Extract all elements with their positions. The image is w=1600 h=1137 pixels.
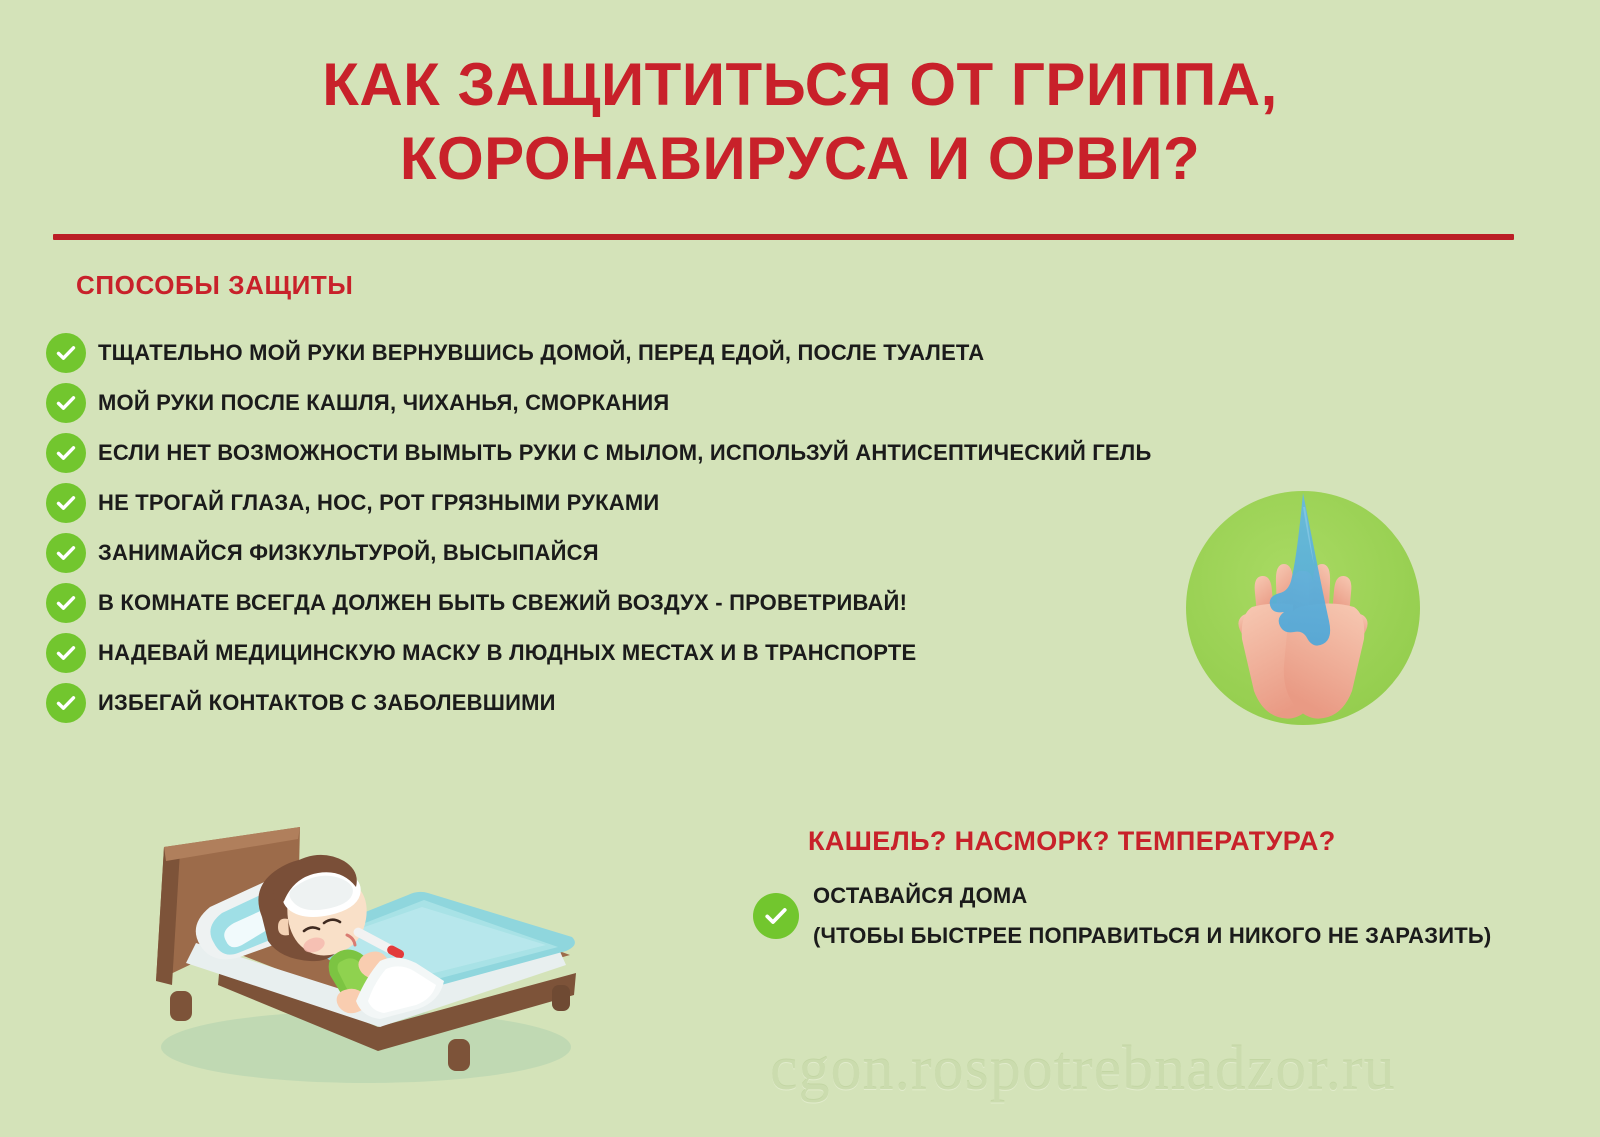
list-item: ЕСЛИ НЕТ ВОЗМОЖНОСТИ ВЫМЫТЬ РУКИ С МЫЛОМ… bbox=[46, 428, 1246, 478]
stay-home-note: (ЧТОБЫ БЫСТРЕЕ ПОПРАВИТЬСЯ И НИКОГО НЕ З… bbox=[813, 923, 1491, 949]
stay-home-texts: ОСТАВАЙСЯ ДОМА (ЧТОБЫ БЫСТРЕЕ ПОПРАВИТЬС… bbox=[813, 883, 1491, 949]
list-item: В КОМНАТЕ ВСЕГДА ДОЛЖЕН БЫТЬ СВЕЖИЙ ВОЗД… bbox=[46, 578, 1246, 628]
symptoms-heading: КАШЕЛЬ? НАСМОРК? ТЕМПЕРАТУРА? bbox=[808, 826, 1533, 857]
stay-home-advice: ОСТАВАЙСЯ ДОМА (ЧТОБЫ БЫСТРЕЕ ПОПРАВИТЬС… bbox=[753, 883, 1533, 949]
list-item-label: ЗАНИМАЙСЯ ФИЗКУЛЬТУРОЙ, ВЫСЫПАЙСЯ bbox=[98, 540, 599, 566]
protection-section-heading: СПОСОБЫ ЗАЩИТЫ bbox=[76, 270, 353, 301]
title-divider bbox=[53, 234, 1514, 240]
sick-person-in-bed-illustration bbox=[128, 795, 598, 1085]
check-circle-icon bbox=[46, 333, 86, 373]
check-circle-icon bbox=[46, 533, 86, 573]
washing-hands-illustration bbox=[1184, 489, 1422, 727]
list-item-label: ЕСЛИ НЕТ ВОЗМОЖНОСТИ ВЫМЫТЬ РУКИ С МЫЛОМ… bbox=[98, 440, 1151, 466]
check-circle-icon bbox=[46, 433, 86, 473]
symptoms-section: КАШЕЛЬ? НАСМОРК? ТЕМПЕРАТУРА? ОСТАВАЙСЯ … bbox=[753, 826, 1533, 949]
title-line-1: КАК ЗАЩИТИТЬСЯ ОТ ГРИППА, bbox=[0, 48, 1600, 122]
check-circle-icon bbox=[46, 483, 86, 523]
list-item: НАДЕВАЙ МЕДИЦИНСКУЮ МАСКУ В ЛЮДНЫХ МЕСТА… bbox=[46, 628, 1246, 678]
list-item-label: МОЙ РУКИ ПОСЛЕ КАШЛЯ, ЧИХАНЬЯ, СМОРКАНИЯ bbox=[98, 390, 669, 416]
check-circle-icon bbox=[46, 633, 86, 673]
list-item: МОЙ РУКИ ПОСЛЕ КАШЛЯ, ЧИХАНЬЯ, СМОРКАНИЯ bbox=[46, 378, 1246, 428]
check-circle-icon bbox=[46, 683, 86, 723]
check-circle-icon bbox=[46, 583, 86, 623]
check-circle-icon bbox=[753, 893, 799, 939]
list-item-label: НАДЕВАЙ МЕДИЦИНСКУЮ МАСКУ В ЛЮДНЫХ МЕСТА… bbox=[98, 640, 916, 666]
protection-methods-list: ТЩАТЕЛЬНО МОЙ РУКИ ВЕРНУВШИСЬ ДОМОЙ, ПЕР… bbox=[46, 328, 1246, 728]
source-watermark: cgon.rospotrebnadzor.ru bbox=[770, 1034, 1396, 1105]
list-item: НЕ ТРОГАЙ ГЛАЗА, НОС, РОТ ГРЯЗНЫМИ РУКАМ… bbox=[46, 478, 1246, 528]
infographic-poster: КАК ЗАЩИТИТЬСЯ ОТ ГРИППА, КОРОНАВИРУСА И… bbox=[0, 0, 1600, 1137]
poster-title: КАК ЗАЩИТИТЬСЯ ОТ ГРИППА, КОРОНАВИРУСА И… bbox=[0, 48, 1600, 196]
stay-home-label: ОСТАВАЙСЯ ДОМА bbox=[813, 883, 1491, 909]
list-item: ТЩАТЕЛЬНО МОЙ РУКИ ВЕРНУВШИСЬ ДОМОЙ, ПЕР… bbox=[46, 328, 1246, 378]
list-item-label: ТЩАТЕЛЬНО МОЙ РУКИ ВЕРНУВШИСЬ ДОМОЙ, ПЕР… bbox=[98, 340, 984, 366]
list-item-label: ИЗБЕГАЙ КОНТАКТОВ С ЗАБОЛЕВШИМИ bbox=[98, 690, 556, 716]
list-item: ЗАНИМАЙСЯ ФИЗКУЛЬТУРОЙ, ВЫСЫПАЙСЯ bbox=[46, 528, 1246, 578]
list-item: ИЗБЕГАЙ КОНТАКТОВ С ЗАБОЛЕВШИМИ bbox=[46, 678, 1246, 728]
title-line-2: КОРОНАВИРУСА И ОРВИ? bbox=[0, 122, 1600, 196]
list-item-label: В КОМНАТЕ ВСЕГДА ДОЛЖЕН БЫТЬ СВЕЖИЙ ВОЗД… bbox=[98, 590, 907, 616]
check-circle-icon bbox=[46, 383, 86, 423]
list-item-label: НЕ ТРОГАЙ ГЛАЗА, НОС, РОТ ГРЯЗНЫМИ РУКАМ… bbox=[98, 490, 659, 516]
